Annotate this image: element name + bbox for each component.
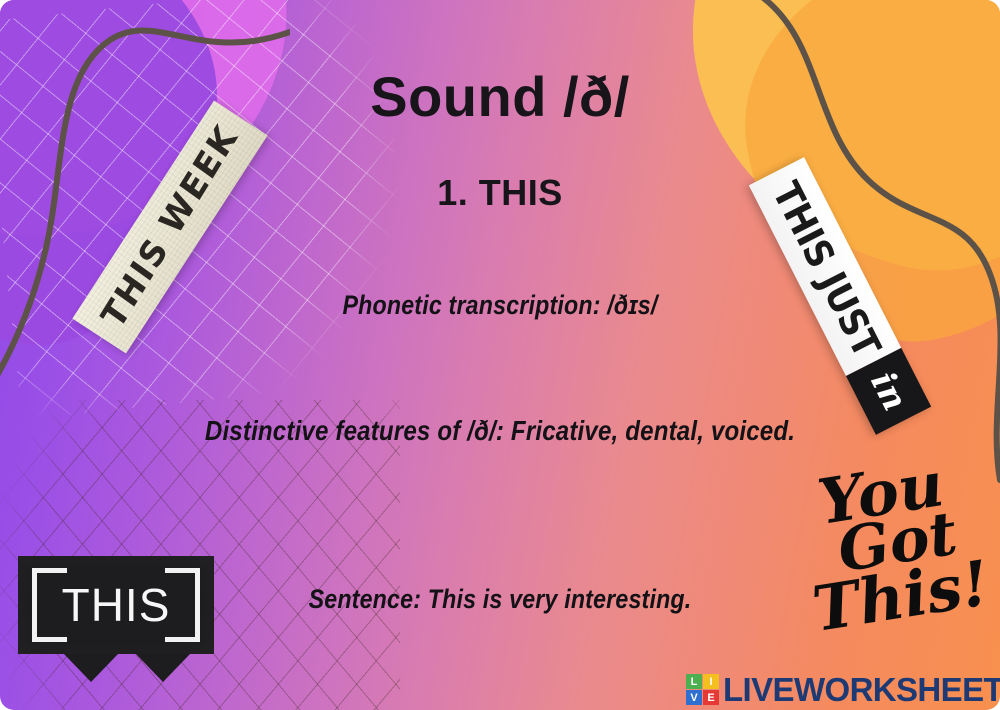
liveworksheets-wordmark: LIVEWORKSHEETS [723,673,1000,706]
phonetic-transcription-line: Phonetic transcription: /ðɪs/ [70,290,930,321]
page-title: Sound /ð/ [0,64,1000,129]
badge-this-arrows [18,654,214,684]
liveworksheets-logo-icon: L I V E [686,674,719,705]
logo-cell-v: V [686,690,702,705]
logo-cell-l: L [686,674,702,689]
logo-cell-e: E [703,690,719,705]
script-you-got-this: You Got This! [797,447,1000,636]
worksheet-slide: Sound /ð/ 1. THIS Phonetic transcription… [0,0,1000,710]
script-you-got-this-line-3: This! [809,550,1000,636]
sticker-this-just-in-tag-label: in [862,365,915,417]
distinctive-features-line: Distinctive features of /ð/: Fricative, … [70,415,930,447]
badge-this-wrapper: THIS [18,556,214,684]
badge-this-label: THIS [18,556,214,654]
liveworksheets-watermark: L I V E LIVEWORKSHEETS [686,673,1000,706]
triangle-down-left-icon [64,654,118,682]
badge-this: THIS [18,556,214,654]
triangle-down-right-icon [136,654,190,682]
logo-cell-i: I [703,674,719,689]
